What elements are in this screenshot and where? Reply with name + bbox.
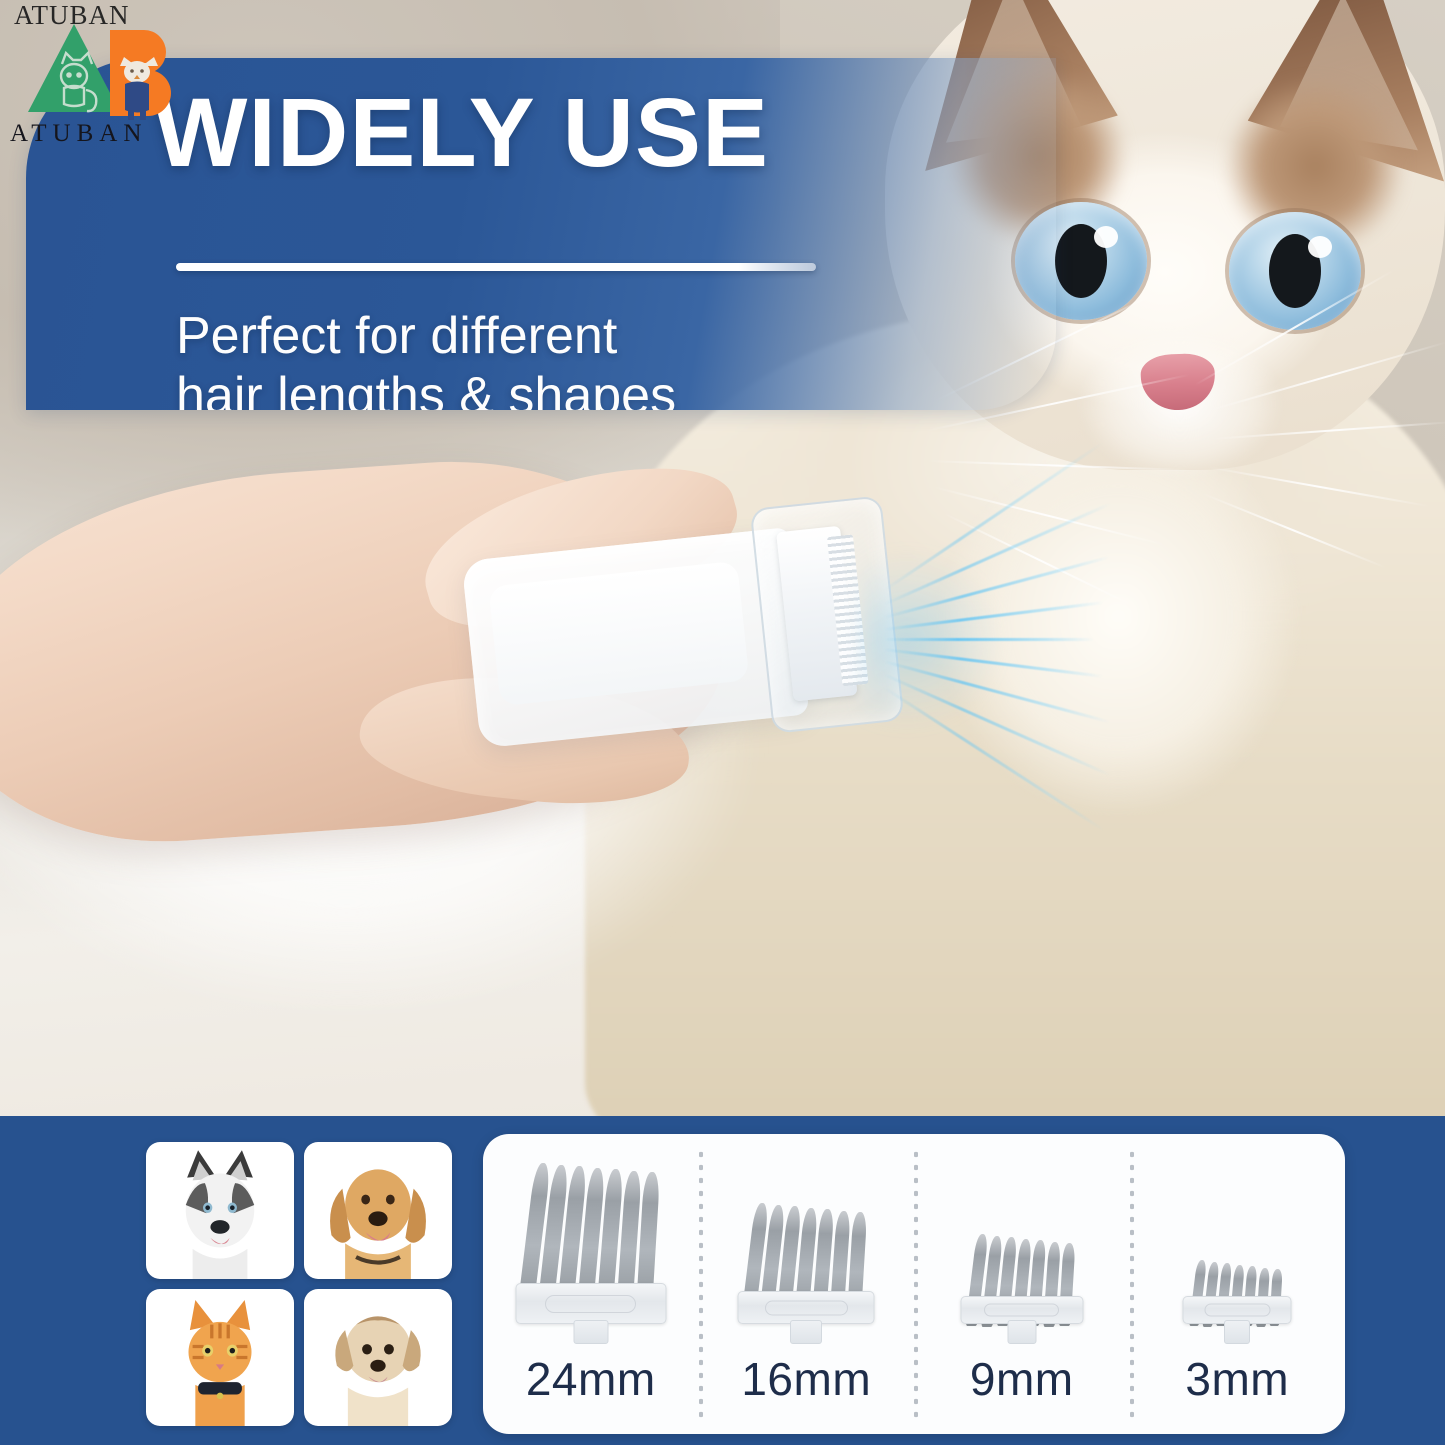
comb-guard-icon-24mm <box>496 1166 686 1346</box>
comb-mount-clip <box>790 1320 822 1344</box>
cat-eye-right <box>1229 212 1361 330</box>
subtitle: Perfect for different hair lengths & sha… <box>176 306 676 410</box>
cat-eye-glint-right <box>1308 236 1332 258</box>
comb-size-label: 24mm <box>526 1352 656 1406</box>
subtitle-line-2: hair lengths & shapes <box>176 366 676 410</box>
comb-divider <box>914 1148 918 1420</box>
pet-grooming-clipper <box>459 494 921 769</box>
comb-size-emboss <box>984 1304 1059 1317</box>
comb-mount-clip <box>1007 1320 1036 1344</box>
comb-guard-icon-16mm <box>711 1166 901 1346</box>
brand-name: ATUBAN <box>10 120 147 148</box>
comb-cell-9mm[interactable]: 9mm <box>914 1134 1130 1434</box>
pet-tile-terrier-puppy <box>304 1289 452 1426</box>
cat-eye-glint-left <box>1094 226 1118 248</box>
subtitle-line-1: Perfect for different <box>176 306 676 366</box>
brand-logo: ATUBAN ATUBAN <box>8 2 193 162</box>
comb-base <box>515 1283 666 1324</box>
comb-size-emboss <box>765 1300 848 1315</box>
comb-guard-card: 24mm16mm9mm3mm <box>483 1134 1345 1434</box>
title-divider <box>176 263 816 271</box>
comb-size-emboss <box>1204 1304 1270 1317</box>
pet-tile-orange-cat <box>146 1289 294 1426</box>
pet-tile-golden-retriever <box>304 1142 452 1279</box>
comb-cell-3mm[interactable]: 3mm <box>1130 1134 1346 1434</box>
product-marketing-image: WIDELY USE Perfect for different hair le… <box>0 0 1445 1445</box>
accessories-bar: 24mm16mm9mm3mm <box>0 1116 1445 1445</box>
comb-size-emboss <box>545 1295 636 1313</box>
comb-mount-clip <box>573 1320 608 1344</box>
page-title: WIDELY USE <box>154 84 769 181</box>
comb-size-label: 16mm <box>741 1352 871 1406</box>
comb-guard-icon-9mm <box>927 1166 1117 1346</box>
pet-photo-grid <box>146 1142 452 1426</box>
comb-divider <box>699 1148 703 1420</box>
dog-logo-icon <box>94 24 190 120</box>
comb-size-label: 9mm <box>970 1352 1074 1406</box>
comb-size-label: 3mm <box>1185 1352 1289 1406</box>
comb-cell-24mm[interactable]: 24mm <box>483 1134 699 1434</box>
comb-guard-icon-3mm <box>1142 1166 1332 1346</box>
pet-tile-husky <box>146 1142 294 1279</box>
airflow-glow <box>860 520 1120 760</box>
comb-mount-clip <box>1224 1320 1250 1344</box>
comb-divider <box>1130 1148 1134 1420</box>
comb-cell-16mm[interactable]: 16mm <box>699 1134 915 1434</box>
